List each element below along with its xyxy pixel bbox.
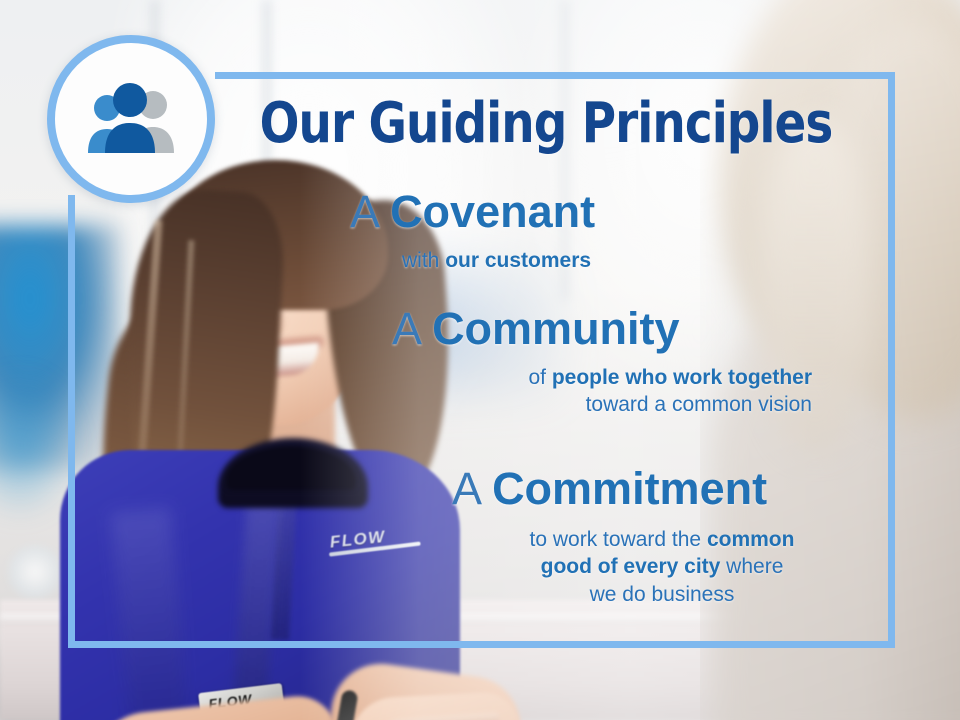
principle-block-community: A Community of people who work togethert… (392, 305, 812, 419)
principle-subtext: to work toward the commongood of every c… (452, 526, 872, 609)
principle-block-covenant: A Covenant with our customers (350, 188, 595, 274)
principle-article: A (392, 303, 420, 354)
page-title: Our Guiding Principles (239, 96, 853, 152)
principle-headline: A Covenant (350, 188, 595, 237)
principle-article: A (350, 186, 378, 237)
principle-keyword: Commitment (492, 463, 767, 514)
principle-headline: A Commitment (452, 465, 872, 514)
principle-keyword: Community (432, 303, 680, 354)
principle-subtext: with our customers (350, 247, 595, 275)
principle-block-commitment: A Commitment to work toward the commongo… (452, 465, 872, 609)
principle-article: A (452, 463, 480, 514)
principle-subtext: of people who work togethertoward a comm… (392, 364, 812, 419)
principle-keyword: Covenant (390, 186, 595, 237)
principle-headline: A Community (392, 305, 812, 354)
guiding-principles-graphic: FLOW FLOW AUTOMOTIVE (0, 0, 960, 720)
people-group-icon (47, 35, 215, 203)
